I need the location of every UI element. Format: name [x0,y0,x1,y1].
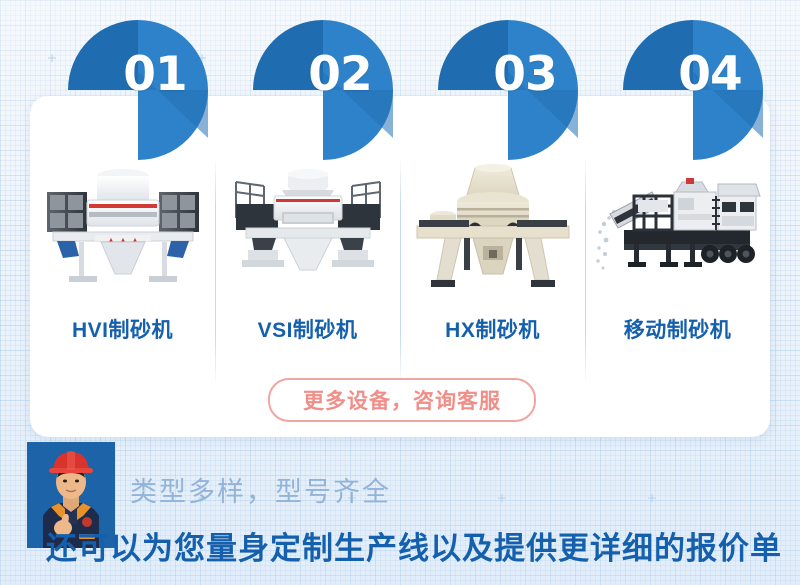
cta-label: 更多设备，咨询客服 [303,385,501,415]
product-image-hx [400,158,585,298]
product-label-hvi: HVI制砂机 [30,314,215,344]
more-equipment-cta-button[interactable]: 更多设备，咨询客服 [268,378,536,422]
product-label-mobile: 移动制砂机 [585,314,770,344]
step-badge-01: 01 [68,20,208,160]
product-image-mobile [585,158,770,298]
product-image-vsi [215,158,400,298]
step-badge-04: 04 [623,20,763,160]
step-number-03: 03 [438,20,578,160]
product-label-hx: HX制砂机 [400,314,585,344]
product-image-hvi [30,158,215,298]
banner-line-1: 类型多样，型号齐全 [130,470,391,509]
product-label-vsi: VSI制砂机 [215,314,400,344]
step-number-02: 02 [253,20,393,160]
step-badge-02: 02 [253,20,393,160]
step-number-01: 01 [68,20,208,160]
banner-line-2: 还可以为您量身定制生产线以及提供更详细的报价单 [46,523,782,568]
step-badge-03: 03 [438,20,578,160]
step-number-04: 04 [623,20,763,160]
